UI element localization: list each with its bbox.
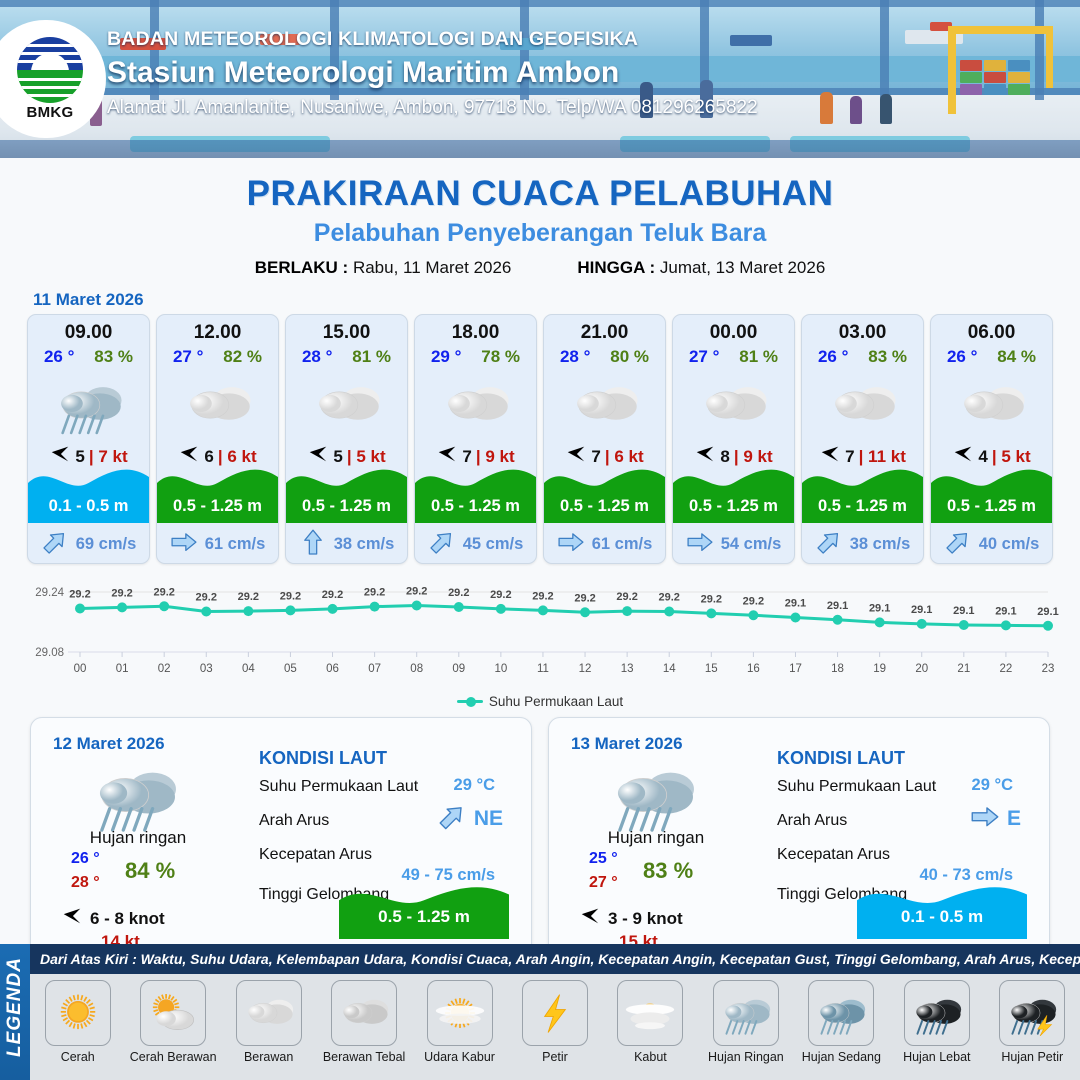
window-mullion: [1035, 0, 1044, 100]
svg-text:13: 13: [621, 663, 634, 675]
valid-to: HINGGA : Jumat, 13 Maret 2026: [577, 258, 825, 278]
wave-height-value: 0.5 - 1.25 m: [544, 497, 665, 516]
wave-height-value: 0.5 - 1.25 m: [157, 497, 278, 516]
page-header: BMKG BADAN METEOROLOGI KLIMATOLOGI DAN G…: [0, 0, 1080, 158]
sea-row-label-current-dir: Arah Arus: [777, 812, 847, 830]
card-current: 61 cm/s: [157, 532, 278, 557]
agency-name: BADAN METEOROLOGI KLIMATOLOGI DAN GEOFIS…: [107, 28, 758, 51]
container: [960, 84, 982, 95]
sea-row-label-current-dir: Arah Arus: [259, 812, 329, 830]
hourly-date-label: 11 Maret 2026: [33, 290, 1080, 310]
daily-forecast-panel[interactable]: 12 Maret 2026 Hujan ringan 26 ° 28 ° 84 …: [30, 717, 532, 962]
valid-to-label: HINGGA :: [577, 258, 655, 277]
svg-text:07: 07: [368, 663, 381, 675]
current-speed-value: 38 cm/s: [334, 535, 395, 554]
hourly-card[interactable]: 03.00 26 ° 83 % 7 | 11 kt 0.5 - 1.25 m 3…: [801, 314, 924, 564]
daily-humidity: 84 %: [125, 858, 175, 884]
svg-text:16: 16: [747, 663, 760, 675]
legend-item: Berawan: [223, 980, 315, 1064]
sea-row-label-sst: Suhu Permukaan Laut: [259, 778, 418, 796]
svg-text:29.1: 29.1: [785, 598, 806, 610]
svg-text:29.2: 29.2: [574, 592, 595, 604]
svg-text:14: 14: [663, 663, 676, 675]
svg-text:29.2: 29.2: [743, 595, 764, 607]
daily-humidity: 83 %: [643, 858, 693, 884]
card-humidity: 83 %: [868, 347, 907, 367]
svg-text:29.2: 29.2: [701, 593, 722, 605]
weather-hujan-ringan-icon: [601, 756, 705, 839]
page-title: PRAKIRAAN CUACA PELABUHAN: [0, 174, 1080, 214]
daily-temp-min: 26 °: [71, 850, 100, 868]
sea-row-label-sst: Suhu Permukaan Laut: [777, 778, 936, 796]
svg-text:04: 04: [242, 663, 255, 675]
current-direction-label: E: [1007, 807, 1021, 831]
sea-row-value-sst: 29 °C: [454, 776, 495, 795]
traveler: [850, 96, 862, 124]
traveler: [820, 92, 833, 124]
hourly-card[interactable]: 00.00 27 ° 81 % 8 | 9 kt 0.5 - 1.25 m 54…: [672, 314, 795, 564]
card-time: 21.00: [544, 322, 665, 344]
traveler: [880, 94, 892, 124]
wave-height-value: 0.1 - 0.5 m: [28, 497, 149, 516]
legend-item: Hujan Petir: [986, 980, 1078, 1064]
sea-row-value-sst: 29 °C: [972, 776, 1013, 795]
legend-hujan-sedang-icon: [808, 980, 874, 1046]
svg-text:01: 01: [116, 663, 129, 675]
legend-item-label: Berawan: [223, 1050, 315, 1064]
svg-text:19: 19: [873, 663, 886, 675]
current-direction-arrow-icon: [815, 532, 843, 557]
svg-text:29.2: 29.2: [659, 592, 680, 604]
card-temperature: 28 °: [302, 347, 332, 367]
current-direction-arrow-icon: [299, 532, 327, 557]
legend-item: Petir: [509, 980, 601, 1064]
container: [984, 84, 1006, 95]
card-time: 09.00: [28, 322, 149, 344]
svg-text:29.2: 29.2: [153, 586, 174, 598]
card-current: 38 cm/s: [286, 532, 407, 557]
validity-row: BERLAKU : Rabu, 11 Maret 2026 HINGGA : J…: [0, 258, 1080, 278]
weather-berawan-icon: [286, 369, 407, 441]
daily-condition: Hujan ringan: [561, 828, 751, 848]
container: [1008, 60, 1030, 71]
daily-wave-value: 0.1 - 0.5 m: [857, 907, 1027, 927]
svg-text:29.2: 29.2: [322, 589, 343, 601]
card-temperature: 26 °: [818, 347, 848, 367]
chart-legend: Suhu Permukaan Laut: [0, 694, 1080, 709]
weather-berawan-icon: [931, 369, 1052, 441]
current-speed-value: 45 cm/s: [463, 535, 524, 554]
card-time: 00.00: [673, 322, 794, 344]
legend-udara-kabur-icon: [427, 980, 493, 1046]
hourly-card[interactable]: 12.00 27 ° 82 % 6 | 6 kt 0.5 - 1.25 m 61…: [156, 314, 279, 564]
svg-text:15: 15: [705, 663, 718, 675]
svg-text:03: 03: [200, 663, 213, 675]
legend-hujan-ringan-icon: [713, 980, 779, 1046]
legend-item: Udara Kabur: [414, 980, 506, 1064]
svg-text:29.1: 29.1: [1037, 606, 1058, 618]
weather-hujan-ringan-icon: [28, 369, 149, 441]
wind-direction-arrow-icon: [61, 905, 83, 932]
valid-from-value: Rabu, 11 Maret 2026: [353, 258, 511, 277]
legend-item: Cerah: [32, 980, 124, 1064]
svg-text:06: 06: [326, 663, 339, 675]
svg-text:29.2: 29.2: [280, 590, 301, 602]
hourly-forecast-row: 09.00 26 ° 83 % 5 | 7 kt 0.1 - 0.5 m 69 …: [0, 314, 1080, 564]
daily-temp-max: 27 °: [589, 874, 618, 892]
legend-kabut-icon: [617, 980, 683, 1046]
legend-item: Hujan Lebat: [891, 980, 983, 1064]
container: [1008, 84, 1030, 95]
current-direction-arrow-icon: [970, 806, 1000, 833]
valid-from: BERLAKU : Rabu, 11 Maret 2026: [255, 258, 512, 278]
sea-row-label-current-speed: Kecepatan Arus: [259, 846, 372, 864]
svg-text:11: 11: [537, 663, 549, 675]
daily-temperatures: 26 ° 28 °: [71, 850, 100, 892]
card-humidity: 78 %: [481, 347, 520, 367]
svg-text:20: 20: [915, 663, 928, 675]
legend-item: Berawan Tebal: [318, 980, 410, 1064]
legend-berawan-tebal-icon: [331, 980, 397, 1046]
current-speed-value: 69 cm/s: [76, 535, 137, 554]
window-beam: [0, 0, 1080, 7]
sea-conditions-title: KONDISI LAUT: [259, 748, 387, 769]
window-mullion: [880, 0, 889, 100]
card-temperature: 28 °: [560, 347, 590, 367]
card-time: 03.00: [802, 322, 923, 344]
container: [960, 60, 982, 71]
daily-date: 12 Maret 2026: [53, 734, 165, 754]
current-direction-arrow-icon: [170, 532, 198, 557]
hourly-card[interactable]: 06.00 26 ° 84 % 4 | 5 kt 0.5 - 1.25 m 40…: [930, 314, 1053, 564]
hourly-card[interactable]: 09.00 26 ° 83 % 5 | 7 kt 0.1 - 0.5 m 69 …: [27, 314, 150, 564]
card-time: 18.00: [415, 322, 536, 344]
card-current: 40 cm/s: [931, 532, 1052, 557]
card-humidity: 84 %: [997, 347, 1036, 367]
card-humidity: 80 %: [610, 347, 649, 367]
station-name: Stasiun Meteorologi Maritim Ambon: [107, 56, 758, 90]
current-speed-value: 38 cm/s: [850, 535, 911, 554]
daily-wind: 6 - 8 knot: [61, 905, 165, 932]
card-temperature: 29 °: [431, 347, 461, 367]
legend-items-row: Cerah Cerah Berawan Berawan Berawan Teba…: [30, 976, 1080, 1080]
svg-text:10: 10: [494, 663, 507, 675]
svg-text:17: 17: [789, 663, 802, 675]
svg-text:05: 05: [284, 663, 297, 675]
legend-cerah-berawan-icon: [140, 980, 206, 1046]
legend-footer: LEGENDA Dari Atas Kiri : Waktu, Suhu Uda…: [0, 944, 1080, 1080]
logo-sky-half: [17, 37, 83, 70]
current-direction-arrow-icon: [41, 532, 69, 557]
current-direction-arrow-icon: [437, 806, 467, 833]
svg-text:00: 00: [74, 663, 87, 675]
legend-item-label: Hujan Ringan: [700, 1050, 792, 1064]
daily-temperatures: 25 ° 27 °: [589, 850, 618, 892]
card-humidity: 81 %: [739, 347, 778, 367]
current-speed-value: 40 cm/s: [979, 535, 1040, 554]
card-humidity: 82 %: [223, 347, 262, 367]
svg-text:29.2: 29.2: [364, 587, 385, 599]
daily-forecast-panel[interactable]: 13 Maret 2026 Hujan ringan 25 ° 27 ° 83 …: [548, 717, 1050, 962]
svg-text:29.1: 29.1: [869, 602, 890, 614]
legend-item-label: Petir: [509, 1050, 601, 1064]
current-direction-arrow-icon: [686, 532, 714, 557]
crane-icon: [948, 26, 956, 114]
current-speed-value: 61 cm/s: [205, 535, 266, 554]
valid-from-label: BERLAKU :: [255, 258, 349, 277]
svg-text:29.1: 29.1: [953, 605, 974, 617]
legend-item: Cerah Berawan: [127, 980, 219, 1064]
svg-text:23: 23: [1042, 663, 1055, 675]
wave-height-value: 0.5 - 1.25 m: [802, 497, 923, 516]
svg-text:02: 02: [158, 663, 171, 675]
wave-height-value: 0.5 - 1.25 m: [673, 497, 794, 516]
current-direction-arrow-icon: [944, 532, 972, 557]
legend-item: Hujan Ringan: [700, 980, 792, 1064]
daily-temp-min: 25 °: [589, 850, 618, 868]
sea-row-value-current-dir: E: [970, 806, 1021, 833]
hourly-card[interactable]: 21.00 28 ° 80 % 7 | 6 kt 0.5 - 1.25 m 61…: [543, 314, 666, 564]
daily-panels-row: 12 Maret 2026 Hujan ringan 26 ° 28 ° 84 …: [0, 709, 1080, 962]
card-current: 61 cm/s: [544, 532, 665, 557]
card-time: 12.00: [157, 322, 278, 344]
sea-row-label-current-speed: Kecepatan Arus: [777, 846, 890, 864]
logo-land-half: [17, 70, 83, 103]
legend-berawan-icon: [236, 980, 302, 1046]
wave-height-value: 0.5 - 1.25 m: [931, 497, 1052, 516]
legend-label: Suhu Permukaan Laut: [489, 694, 623, 709]
daily-condition: Hujan ringan: [43, 828, 233, 848]
valid-to-value: Jumat, 13 Maret 2026: [660, 258, 825, 277]
weather-berawan-icon: [157, 369, 278, 441]
card-humidity: 81 %: [352, 347, 391, 367]
header-text-block: BADAN METEOROLOGI KLIMATOLOGI DAN GEOFIS…: [107, 28, 758, 119]
current-direction-label: NE: [474, 807, 503, 831]
svg-text:29.2: 29.2: [532, 590, 553, 602]
container: [984, 72, 1006, 83]
legend-side-band: LEGENDA: [0, 944, 30, 1080]
hourly-card[interactable]: 18.00 29 ° 78 % 7 | 9 kt 0.5 - 1.25 m 45…: [414, 314, 537, 564]
sea-conditions-title: KONDISI LAUT: [777, 748, 905, 769]
legend-item-label: Hujan Petir: [986, 1050, 1078, 1064]
card-humidity: 83 %: [94, 347, 133, 367]
weather-berawan-icon: [802, 369, 923, 441]
svg-text:18: 18: [831, 663, 844, 675]
svg-text:21: 21: [957, 663, 970, 675]
daily-date: 13 Maret 2026: [571, 734, 683, 754]
daily-wind-value: 6 - 8 knot: [90, 909, 165, 929]
legend-item-label: Udara Kabur: [414, 1050, 506, 1064]
card-temperature: 26 °: [44, 347, 74, 367]
legend-side-label: LEGENDA: [4, 951, 26, 1063]
current-speed-value: 54 cm/s: [721, 535, 782, 554]
legend-item-label: Kabut: [604, 1050, 696, 1064]
legend-petir-icon: [522, 980, 588, 1046]
svg-text:29.2: 29.2: [406, 586, 427, 598]
daily-wave-graphic: 0.1 - 0.5 m: [857, 879, 1027, 939]
svg-text:29.2: 29.2: [490, 589, 511, 601]
svg-text:08: 08: [410, 663, 423, 675]
legend-hujan-lebat-icon: [904, 980, 970, 1046]
legend-line-swatch: [457, 700, 483, 703]
hourly-card[interactable]: 15.00 28 ° 81 % 5 | 5 kt 0.5 - 1.25 m 38…: [285, 314, 408, 564]
crane-icon: [948, 26, 1052, 34]
daily-wind-value: 3 - 9 knot: [608, 909, 683, 929]
svg-text:29.1: 29.1: [827, 600, 848, 612]
sst-chart-svg: 29.2429.0829.20029.20129.20229.20329.204…: [20, 574, 1060, 692]
current-speed-value: 61 cm/s: [592, 535, 653, 554]
wind-direction-arrow-icon: [579, 905, 601, 932]
page-subtitle: Pelabuhan Penyeberangan Teluk Bara: [0, 219, 1080, 248]
bmkg-logo-text: BMKG: [26, 104, 73, 121]
card-time: 15.00: [286, 322, 407, 344]
svg-text:29.2: 29.2: [616, 591, 637, 603]
bmkg-logo-circle: [17, 37, 83, 103]
legend-item: Kabut: [604, 980, 696, 1064]
card-temperature: 27 °: [173, 347, 203, 367]
container: [960, 72, 982, 83]
svg-text:29.24: 29.24: [35, 587, 64, 599]
card-time: 06.00: [931, 322, 1052, 344]
svg-text:29.1: 29.1: [995, 605, 1016, 617]
daily-wave-graphic: 0.5 - 1.25 m: [339, 879, 509, 939]
weather-berawan-icon: [415, 369, 536, 441]
legend-item: Hujan Sedang: [795, 980, 887, 1064]
legend-item-label: Hujan Sedang: [795, 1050, 887, 1064]
current-direction-arrow-icon: [557, 532, 585, 557]
weather-berawan-icon: [544, 369, 665, 441]
station-address: Alamat Jl. Amanlanite, Nusaniwe, Ambon, …: [107, 97, 758, 119]
container: [984, 60, 1006, 71]
legend-hujan-petir-icon: [999, 980, 1065, 1046]
svg-text:29.2: 29.2: [69, 589, 90, 601]
daily-wave-value: 0.5 - 1.25 m: [339, 907, 509, 927]
legend-item-label: Cerah Berawan: [127, 1050, 219, 1064]
sea-row-value-current-dir: NE: [437, 806, 503, 833]
svg-text:22: 22: [1000, 663, 1013, 675]
wave-height-value: 0.5 - 1.25 m: [286, 497, 407, 516]
weather-berawan-icon: [673, 369, 794, 441]
card-current: 38 cm/s: [802, 532, 923, 557]
weather-hujan-ringan-icon: [83, 756, 187, 839]
legend-item-label: Berawan Tebal: [318, 1050, 410, 1064]
svg-text:29.08: 29.08: [35, 647, 64, 659]
sst-chart: 29.2429.0829.20029.20129.20229.20329.204…: [20, 574, 1060, 692]
container: [1008, 72, 1030, 83]
daily-temp-max: 28 °: [71, 874, 100, 892]
daily-wind: 3 - 9 knot: [579, 905, 683, 932]
card-current: 45 cm/s: [415, 532, 536, 557]
card-current: 54 cm/s: [673, 532, 794, 557]
card-temperature: 27 °: [689, 347, 719, 367]
header-bottom-band: [0, 140, 1080, 158]
svg-text:29.2: 29.2: [448, 587, 469, 599]
svg-text:09: 09: [452, 663, 465, 675]
crane-icon: [1046, 26, 1053, 88]
svg-text:12: 12: [579, 663, 592, 675]
legend-cerah-icon: [45, 980, 111, 1046]
current-direction-arrow-icon: [428, 532, 456, 557]
wave-height-value: 0.5 - 1.25 m: [415, 497, 536, 516]
svg-text:29.2: 29.2: [111, 587, 132, 599]
card-current: 69 cm/s: [28, 532, 149, 557]
svg-text:29.1: 29.1: [911, 604, 932, 616]
svg-text:29.2: 29.2: [238, 591, 259, 603]
svg-text:29.2: 29.2: [196, 592, 217, 604]
legend-item-label: Hujan Lebat: [891, 1050, 983, 1064]
legend-note-bar: Dari Atas Kiri : Waktu, Suhu Udara, Kele…: [30, 944, 1080, 974]
legend-item-label: Cerah: [32, 1050, 124, 1064]
card-temperature: 26 °: [947, 347, 977, 367]
